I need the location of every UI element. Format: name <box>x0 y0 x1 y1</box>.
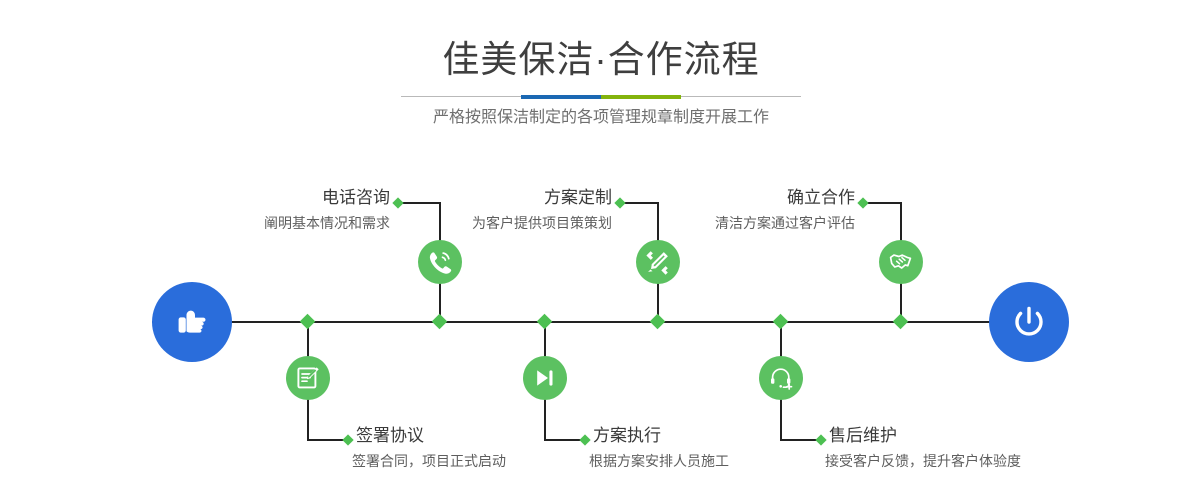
step-icon-plan-execute[interactable] <box>523 356 567 400</box>
step-label-after-sales: 售后维护 接受客户反馈，提升客户体验度 <box>825 424 1075 472</box>
process-flow-diagram: 电话咨询 阐明基本情况和需求 签署协议 签署合同，项目正式启动 <box>0 0 1202 502</box>
play-execute-icon <box>532 365 558 391</box>
connector-horizontal-step-6 <box>780 439 820 441</box>
step-label-sign-agreement: 签署协议 签署合同，项目正式启动 <box>352 424 582 472</box>
step-icon-sign-agreement[interactable] <box>286 356 330 400</box>
thumbs-up-icon <box>172 302 212 342</box>
step-title: 电话咨询 <box>154 186 390 210</box>
step-label-plan-customize: 方案定制 为客户提供项目策策划 <box>380 186 612 234</box>
connector-horizontal-step-2 <box>307 439 347 441</box>
flow-start-node[interactable] <box>152 282 232 362</box>
power-icon <box>1007 300 1051 344</box>
step-desc: 为客户提供项目策策划 <box>380 212 612 234</box>
connector-horizontal-step-3 <box>621 202 659 204</box>
axis-marker-step-3 <box>650 314 666 330</box>
flow-end-node[interactable] <box>989 282 1069 362</box>
axis-marker-step-5 <box>893 314 909 330</box>
step-label-phone-consult: 电话咨询 阐明基本情况和需求 <box>154 186 390 234</box>
step-icon-establish-cooperation[interactable] <box>879 240 923 284</box>
document-pen-icon <box>295 365 321 391</box>
step-icon-after-sales[interactable] <box>759 356 803 400</box>
step-desc: 签署合同，项目正式启动 <box>352 450 582 472</box>
step-desc: 清洁方案通过客户评估 <box>620 212 855 234</box>
connector-horizontal-step-1 <box>399 202 441 204</box>
phone-call-icon <box>427 249 453 275</box>
step-desc: 根据方案安排人员施工 <box>589 450 819 472</box>
handshake-icon <box>888 249 914 275</box>
headset-plus-icon <box>768 365 794 391</box>
axis-marker-step-1 <box>432 314 448 330</box>
step-title: 售后维护 <box>825 424 1075 448</box>
axis-marker-step-2 <box>300 314 316 330</box>
step-title: 方案执行 <box>589 424 819 448</box>
connector-horizontal-step-5 <box>864 202 902 204</box>
pencil-design-icon <box>645 249 671 275</box>
step-title: 签署协议 <box>352 424 582 448</box>
step-desc: 接受客户反馈，提升客户体验度 <box>825 450 1075 472</box>
timeline-axis <box>152 321 1050 323</box>
axis-marker-step-4 <box>537 314 553 330</box>
step-icon-phone-consult[interactable] <box>418 240 462 284</box>
step-label-establish-cooperation: 确立合作 清洁方案通过客户评估 <box>620 186 855 234</box>
step-title: 方案定制 <box>380 186 612 210</box>
step-label-plan-execute: 方案执行 根据方案安排人员施工 <box>589 424 819 472</box>
axis-marker-step-6 <box>773 314 789 330</box>
label-marker-step-5 <box>857 197 868 208</box>
step-title: 确立合作 <box>620 186 855 210</box>
step-desc: 阐明基本情况和需求 <box>154 212 390 234</box>
connector-horizontal-step-4 <box>544 439 584 441</box>
step-icon-plan-customize[interactable] <box>636 240 680 284</box>
